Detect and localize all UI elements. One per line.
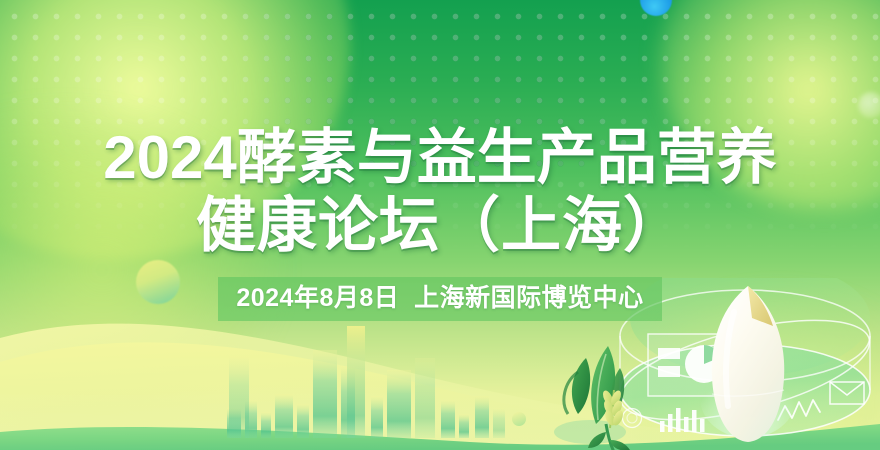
subtitle-wrap: 2024年8月8日 上海新国际博览中心: [0, 277, 880, 321]
city-skyline: [225, 308, 525, 438]
circle-outline-icon: [623, 409, 642, 428]
title-block: 2024酵素与益生产品营养 健康论坛（上海）: [0, 124, 880, 260]
bar-chart-icon: [660, 408, 705, 432]
dashboard-pie-card-icon: [648, 334, 734, 396]
envelope-icon: [830, 382, 864, 404]
event-date-venue-badge: 2024年8月8日 上海新国际博览中心: [218, 277, 661, 321]
blue-circle-accent-icon: [640, 0, 672, 16]
event-banner: 2024酵素与益生产品营养 健康论坛（上海） 2024年8月8日 上海新国际博览…: [0, 0, 880, 450]
bubble-tiny: [858, 92, 880, 118]
line-chart-icon: [778, 400, 820, 420]
page-title-line-1: 2024酵素与益生产品营养: [0, 124, 880, 192]
glow-bottomright: [620, 300, 880, 450]
bubble-small: [512, 412, 526, 426]
leaf-plant-illustration: [548, 332, 658, 450]
page-title-line-2: 健康论坛（上海）: [0, 192, 880, 260]
